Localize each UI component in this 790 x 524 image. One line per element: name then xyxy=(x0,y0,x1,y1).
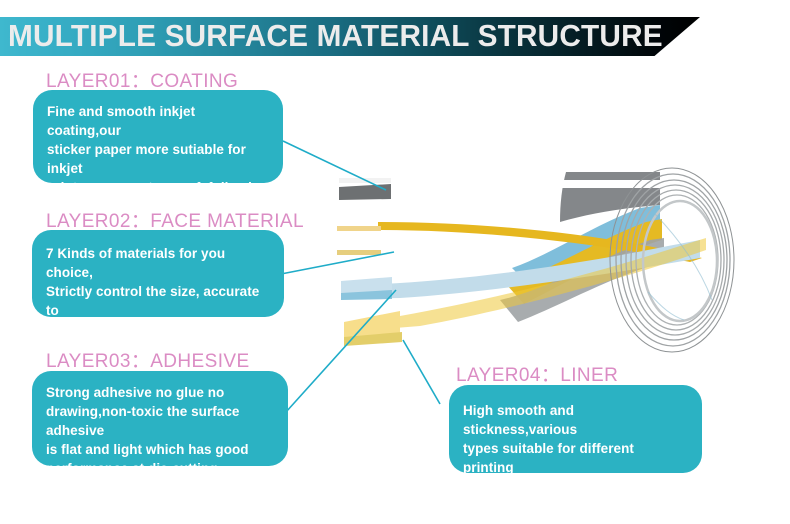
roll-ring-4 xyxy=(631,190,721,330)
roll-cylinder-top-shade xyxy=(560,172,660,222)
roll-disc-outer xyxy=(610,168,734,352)
roll-wrap-yellow xyxy=(506,219,662,304)
roll-ring-5 xyxy=(636,195,718,325)
callout-text-coating: Fine and smooth inkjet coating,our stick… xyxy=(47,102,269,216)
roll-wrap-gray xyxy=(500,238,664,322)
layer-coating-edge-face xyxy=(339,182,700,222)
roll-ring-2 xyxy=(621,180,727,340)
layer-adhesive-edge xyxy=(341,246,700,300)
layer-adhesive-body xyxy=(345,240,700,299)
leader-line-layer04 xyxy=(403,340,440,404)
layer-liner-bottom-rim xyxy=(344,332,402,346)
layer-label-02: LAYER02：FACE MATERIAL xyxy=(46,206,304,233)
callout-text-face-material: 7 Kinds of materials for you choice, Str… xyxy=(46,244,270,358)
roll-wrap-blue xyxy=(512,205,660,284)
callout-box-coating[interactable]: Fine and smooth inkjet coating,our stick… xyxy=(33,90,283,183)
page-title: MULTIPLE SURFACE MATERIAL STRUCTURE xyxy=(8,17,661,56)
layer-liner-side-shade xyxy=(344,238,706,332)
leader-line-layer02 xyxy=(281,252,394,274)
layer-coating-top xyxy=(385,182,700,206)
leader-line-layer01 xyxy=(283,141,386,190)
layer-adhesive-pale-face xyxy=(341,277,392,294)
roll-ring-1 xyxy=(616,174,730,346)
layer-face-pale-edge xyxy=(337,226,381,231)
layer-liner-top xyxy=(344,232,706,342)
roll-core-highlight-2 xyxy=(648,292,684,320)
roll-cylinder-body xyxy=(556,172,660,348)
callout-box-liner[interactable]: High smooth and stickness,various types … xyxy=(449,385,702,473)
callout-box-face-material[interactable]: 7 Kinds of materials for you choice, Str… xyxy=(32,230,284,317)
leader-line-layer03 xyxy=(286,290,396,412)
layer-coating-white-strip xyxy=(382,180,700,188)
roll-ring-3 xyxy=(626,185,724,335)
layer-label-01: LAYER01：COATING xyxy=(46,66,238,93)
callout-text-adhesive: Strong adhesive no glue no drawing,non-t… xyxy=(46,383,274,478)
layer-adhesive-top xyxy=(345,226,700,294)
layer-face-gold-upper xyxy=(378,222,702,262)
layer-adhesive-blue-rim xyxy=(341,290,392,300)
layer-face-bottom-rim xyxy=(337,250,381,255)
layer-coating-thin-white xyxy=(339,178,391,183)
callout-box-adhesive[interactable]: Strong adhesive no glue no drawing,non-t… xyxy=(32,371,288,466)
layer-coating-dark-band xyxy=(339,184,391,200)
roll-core-highlight-1 xyxy=(655,214,712,300)
callout-text-liner: High smooth and stickness,various types … xyxy=(463,401,688,496)
layer-face-gold-top xyxy=(378,226,700,268)
layer-coating-white-rim xyxy=(339,178,391,183)
layer-label-03: LAYER03：ADHESIVE xyxy=(46,346,250,373)
roll-core-hole xyxy=(643,201,717,321)
layer-face-pale-strip xyxy=(337,229,381,253)
layer-liner-pale-face xyxy=(344,311,400,340)
infographic-canvas: MULTIPLE SURFACE MATERIAL STRUCTURE xyxy=(0,0,790,524)
layer-label-04: LAYER04：LINER xyxy=(456,360,618,387)
